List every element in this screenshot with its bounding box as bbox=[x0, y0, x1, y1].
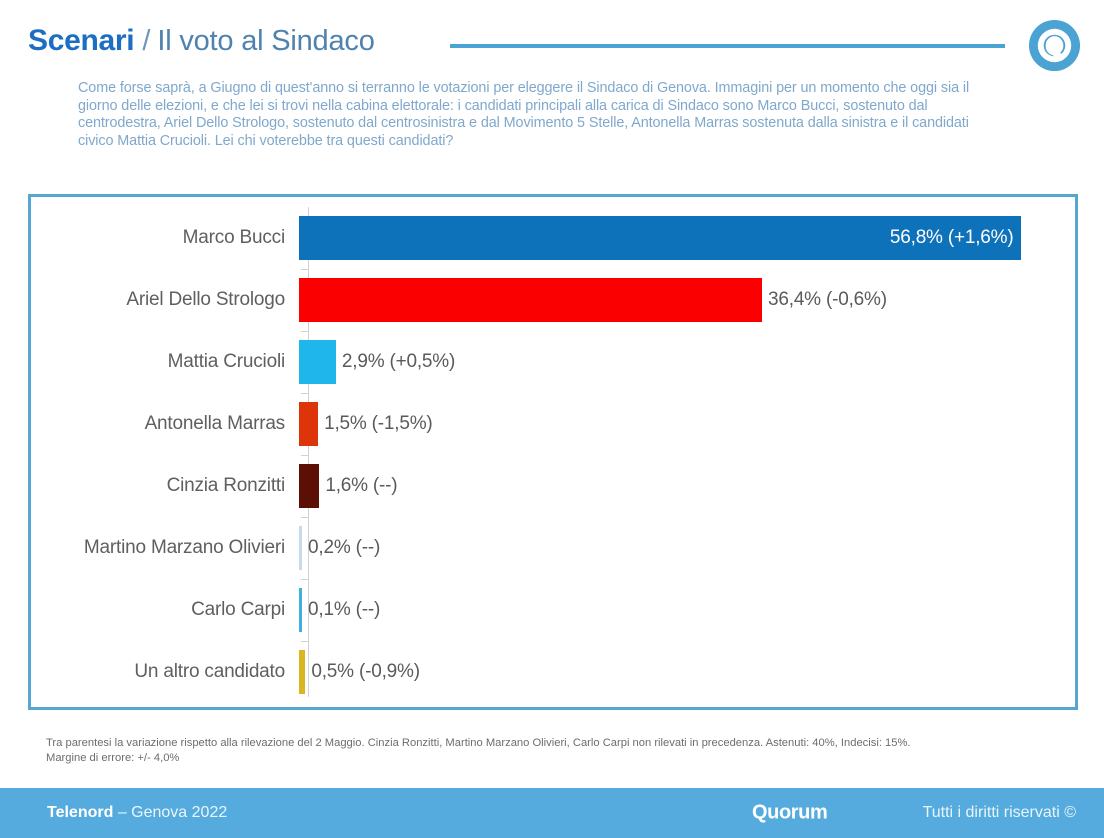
bar bbox=[299, 402, 318, 446]
bar-value-label: 36,4% (-0,6%) bbox=[762, 289, 887, 311]
chart-row: Marco Bucci56,8% (+1,6%) bbox=[31, 207, 1075, 269]
footer-client-name: Telenord bbox=[47, 804, 113, 821]
survey-question-text: Come forse saprà, a Giugno di quest'anno… bbox=[78, 80, 1008, 150]
bar-category-label: Cinzia Ronzitti bbox=[31, 475, 299, 497]
bar-value-label: 0,1% (--) bbox=[302, 599, 380, 621]
bar bbox=[299, 278, 762, 322]
bar-area: 0,2% (--) bbox=[299, 526, 1075, 570]
bar-area: 2,9% (+0,5%) bbox=[299, 340, 1075, 384]
chart-panel: Marco Bucci56,8% (+1,6%)Ariel Dello Stro… bbox=[28, 194, 1078, 710]
bar-category-label: Marco Bucci bbox=[31, 227, 299, 249]
chart-row: Carlo Carpi0,1% (--) bbox=[31, 579, 1075, 641]
bar-area: 56,8% (+1,6%) bbox=[299, 216, 1075, 260]
chart-row: Un altro candidato0,5% (-0,9%) bbox=[31, 641, 1075, 703]
bar-value-label: 1,6% (--) bbox=[319, 475, 397, 497]
bar-category-label: Ariel Dello Strologo bbox=[31, 289, 299, 311]
title-rule-divider bbox=[450, 44, 1005, 48]
footer-rights: Tutti i diritti riservati © bbox=[923, 804, 1076, 822]
footnote-line-2: Margine di errore: +/- 4,0% bbox=[46, 751, 1081, 766]
bar-area: 0,5% (-0,9%) bbox=[299, 650, 1075, 694]
chart-row: Cinzia Ronzitti1,6% (--) bbox=[31, 455, 1075, 517]
chart-row: Mattia Crucioli2,9% (+0,5%) bbox=[31, 331, 1075, 393]
bar-category-label: Un altro candidato bbox=[31, 661, 299, 683]
chart-row: Martino Marzano Olivieri0,2% (--) bbox=[31, 517, 1075, 579]
header: Scenari / Il voto al Sindaco bbox=[0, 0, 1104, 78]
bar-value-label: 2,9% (+0,5%) bbox=[336, 351, 455, 373]
poll-result-infographic: Scenari / Il voto al Sindaco Come forse … bbox=[0, 0, 1104, 838]
bar-area: 36,4% (-0,6%) bbox=[299, 278, 1075, 322]
bar-area: 1,5% (-1,5%) bbox=[299, 402, 1075, 446]
bar-value-label: 1,5% (-1,5%) bbox=[318, 413, 432, 435]
footnote: Tra parentesi la variazione rispetto all… bbox=[46, 736, 1081, 766]
chart-row: Antonella Marras1,5% (-1,5%) bbox=[31, 393, 1075, 455]
footnote-line-1: Tra parentesi la variazione rispetto all… bbox=[46, 736, 1081, 751]
horizontal-bar-chart: Marco Bucci56,8% (+1,6%)Ariel Dello Stro… bbox=[31, 197, 1075, 707]
bar-value-label: 0,5% (-0,9%) bbox=[305, 661, 419, 683]
bar-category-label: Carlo Carpi bbox=[31, 599, 299, 621]
footer-bar: Telenord – Genova 2022 Quorum Tutti i di… bbox=[0, 788, 1104, 838]
title-strong: Scenari bbox=[28, 24, 134, 58]
footer-client-sub: – Genova 2022 bbox=[113, 804, 227, 821]
bar-area: 1,6% (--) bbox=[299, 464, 1075, 508]
footer-brand-quorum: Quorum bbox=[752, 802, 827, 825]
page-title: Scenari / Il voto al Sindaco bbox=[28, 24, 375, 58]
footer-client: Telenord – Genova 2022 bbox=[47, 804, 227, 822]
chart-row: Ariel Dello Strologo36,4% (-0,6%) bbox=[31, 269, 1075, 331]
quorum-logo-icon bbox=[1027, 18, 1082, 73]
bar-value-label: 56,8% (+1,6%) bbox=[890, 227, 1014, 249]
title-subtitle: Il voto al Sindaco bbox=[157, 25, 374, 58]
title-separator: / bbox=[142, 25, 150, 58]
bar bbox=[299, 340, 336, 384]
bar-category-label: Antonella Marras bbox=[31, 413, 299, 435]
bar-value-label: 0,2% (--) bbox=[302, 537, 380, 559]
bar bbox=[299, 464, 319, 508]
bar-category-label: Martino Marzano Olivieri bbox=[31, 537, 299, 559]
bar-category-label: Mattia Crucioli bbox=[31, 351, 299, 373]
bar-area: 0,1% (--) bbox=[299, 588, 1075, 632]
